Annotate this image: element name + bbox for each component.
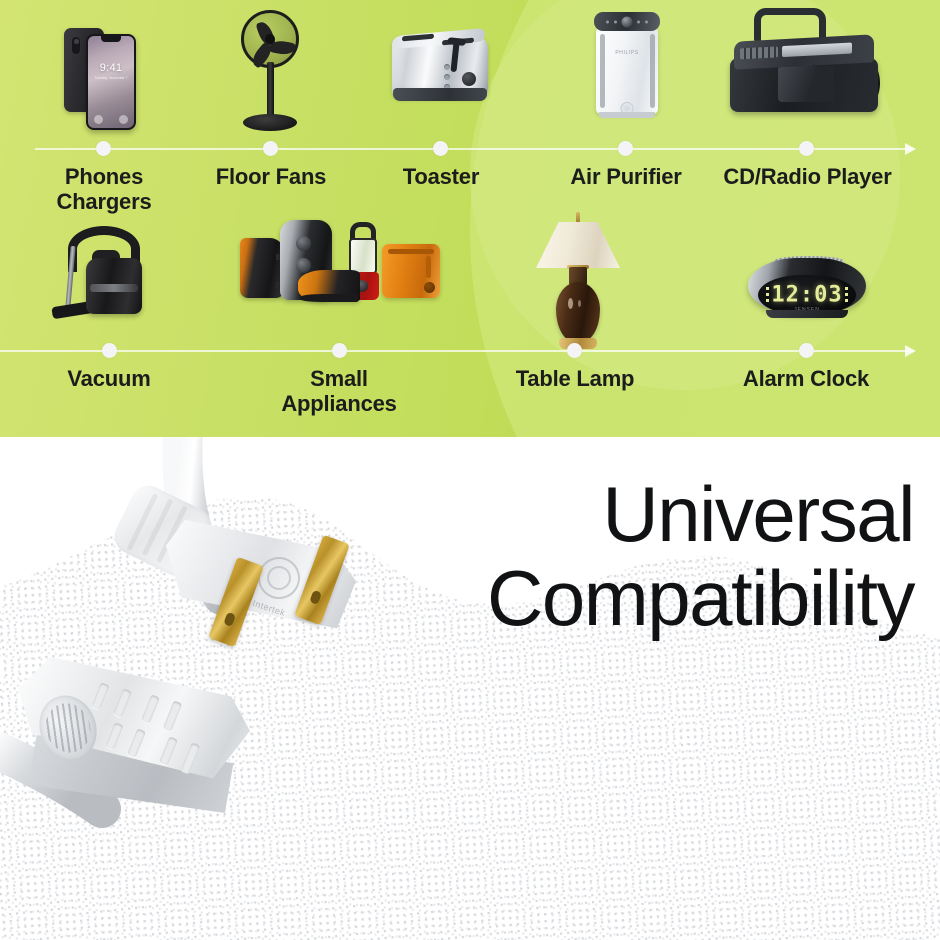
phone-camera-shortcut-icon: [119, 115, 128, 124]
phone-notch: [101, 36, 121, 42]
timeline-dot-vacuum: [102, 343, 117, 358]
alarm-clock-display: 12:03 JENSEN: [758, 275, 856, 315]
power-plug: Intertek 2-15: [166, 489, 374, 653]
alarm-clock-base: [766, 310, 848, 318]
fan-pole: [267, 62, 274, 120]
vacuum-cleaner-icon: [52, 222, 162, 334]
boombox-icon: SONY: [728, 8, 884, 120]
vacuum-stripe: [90, 284, 138, 292]
steam-iron-icon: [298, 270, 360, 302]
air-purifier-foot: [599, 112, 655, 118]
lamp-base-body: [556, 282, 600, 342]
timeline-dot-air-purifier: [618, 141, 633, 156]
category-label-vacuum: Vacuum: [23, 366, 195, 391]
alarm-clock-icon: 12:03 JENSEN: [748, 248, 868, 328]
air-purifier-control-panel: [594, 12, 660, 31]
category-label-air-purifier: Air Purifier: [535, 164, 717, 189]
plug-emboss-rating: 2-15: [189, 606, 211, 622]
fan-base: [243, 114, 297, 131]
timeline-dot-small-appliances: [332, 343, 347, 358]
timeline-dot-floor-fans: [263, 141, 278, 156]
category-label-floor-fans: Floor Fans: [185, 164, 357, 189]
air-purifier-body: PHILIPS: [596, 26, 658, 114]
alarm-clock-body: 12:03 JENSEN: [748, 258, 866, 314]
boombox-buttons: [740, 46, 778, 59]
outlet-tap-block: [18, 649, 250, 835]
small-appliances-icon: [236, 218, 446, 334]
fan-cage: [241, 10, 299, 68]
timeline-arrow-row-2: [905, 345, 916, 357]
orange-toaster-icon: [382, 244, 440, 298]
category-label-cd-radio-player: CD/Radio Player: [700, 164, 915, 189]
timeline-dot-toaster: [433, 141, 448, 156]
pedestal-fan-icon: [225, 10, 317, 132]
toaster-base: [393, 88, 487, 101]
marketing-image: 9:41 Tuesday, November 7: [0, 0, 940, 940]
timeline-dot-cd-radio: [799, 141, 814, 156]
phone-screen: 9:41 Tuesday, November 7: [88, 36, 134, 128]
phone-time-label: 9:41: [88, 62, 134, 74]
category-label-small-appliances: Small Appliances: [253, 366, 425, 416]
vacuum-wand: [65, 246, 75, 308]
boombox-cd-door: [778, 66, 834, 102]
toaster-browning-knob: [462, 72, 476, 86]
timeline-arrow-row-1: [905, 143, 916, 155]
phone-flashlight-icon: [94, 115, 103, 124]
phone-camera-icon: [72, 37, 80, 54]
phone-date-label: Tuesday, November 7: [88, 76, 134, 80]
lamp-shade: [536, 222, 620, 268]
phone-front-view: 9:41 Tuesday, November 7: [86, 34, 136, 130]
extension-cord: Intertek 2-15: [0, 437, 440, 927]
category-label-alarm-clock: Alarm Clock: [720, 366, 892, 391]
toaster-icon: [392, 22, 488, 118]
boombox-cassette-deck: [782, 42, 852, 57]
air-purifier-icon: PHILIPS: [590, 12, 664, 124]
fan-hub: [265, 34, 275, 44]
timeline-row-2: [0, 350, 913, 352]
category-label-phones-chargers: Phones Chargers: [18, 164, 190, 214]
etl-certification-icon: [254, 553, 305, 604]
compatibility-panel: 9:41 Tuesday, November 7: [0, 0, 940, 437]
air-purifier-power-button: [622, 16, 633, 27]
category-label-toaster: Toaster: [355, 164, 527, 189]
timeline-dot-table-lamp: [567, 343, 582, 358]
electric-kettle-icon: [240, 238, 284, 298]
table-lamp-icon: [528, 212, 628, 352]
timeline-dot-phones: [96, 141, 111, 156]
timeline-dot-alarm-clock: [799, 343, 814, 358]
category-label-table-lamp: Table Lamp: [489, 366, 661, 391]
product-hero-section: Universal Compatibility: [0, 437, 940, 940]
alarm-clock-time-label: 12:03: [758, 283, 856, 308]
plug-emboss-intertek: Intertek: [251, 598, 286, 618]
air-purifier-brand-label: PHILIPS: [596, 50, 658, 56]
timeline-row-1: [35, 148, 913, 150]
smartphone-icon: 9:41 Tuesday, November 7: [58, 22, 148, 132]
